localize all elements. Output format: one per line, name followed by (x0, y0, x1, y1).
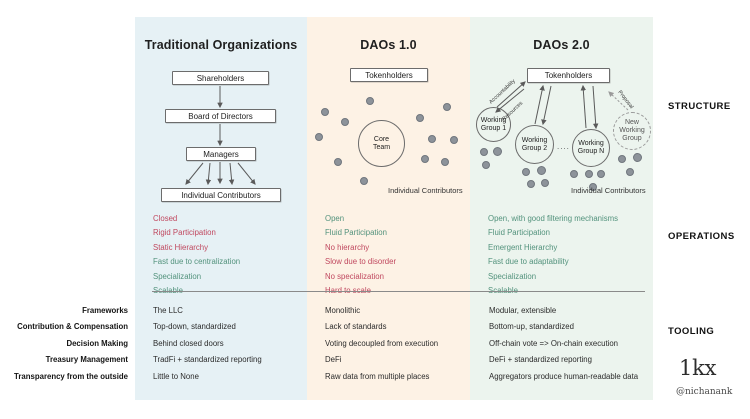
node-tokenholders-daos1: Tokenholders (350, 68, 428, 82)
operations-list-daos1: Open Fluid Participation No hierarchy Sl… (325, 212, 396, 298)
tooling-row-label: Treasury Management (0, 352, 128, 368)
tooling-cell: Monolithic (325, 303, 438, 319)
tooling-row-label: Frameworks (0, 303, 128, 319)
contributor-dot (360, 177, 368, 185)
contributor-dot (321, 108, 329, 116)
operations-item: Slow due to disorder (325, 255, 396, 269)
contributor-dot (597, 170, 605, 178)
operations-item: Emergent Hierarchy (488, 241, 618, 255)
tooling-row-labels: Frameworks Contribution & Compensation D… (0, 303, 128, 385)
contributor-dot (585, 170, 593, 178)
tooling-cell: Voting decoupled from execution (325, 336, 438, 352)
contributor-dot (633, 153, 642, 162)
operations-list-daos2: Open, with good filtering mechanisms Flu… (488, 212, 618, 298)
contributor-dot (493, 147, 502, 156)
tooling-cell: Little to None (153, 369, 262, 385)
tooling-row-label: Transparency from the outside (0, 369, 128, 385)
contributor-dot (537, 166, 546, 175)
contributor-dot (541, 179, 549, 187)
node-individual-contributors: Individual Contributors (161, 188, 281, 202)
tooling-column-daos1: Monolithic Lack of standards Voting deco… (325, 303, 438, 385)
core-team-line-1: Core (373, 136, 390, 144)
tooling-cell: Behind closed doors (153, 336, 262, 352)
contributor-dot (334, 158, 342, 166)
brand-logo: 1kx (679, 356, 716, 380)
contributor-dot (527, 180, 535, 188)
tooling-cell: Bottom-up, standardized (489, 319, 638, 335)
operations-item: Fast due to adaptability (488, 255, 618, 269)
operations-item: Fluid Participation (488, 226, 618, 240)
tooling-cell: Lack of standards (325, 319, 438, 335)
contributor-dot (421, 155, 429, 163)
tooling-row-label: Contribution & Compensation (0, 319, 128, 335)
tooling-cell: TradFi + standardized reporting (153, 352, 262, 368)
section-label-structure: STRUCTURE (668, 101, 731, 112)
contributor-dot (441, 158, 449, 166)
contributor-dot (618, 155, 626, 163)
contributor-dot (450, 136, 458, 144)
node-new-working-group: New Working Group (613, 112, 651, 150)
operations-item: Closed (153, 212, 240, 226)
contributor-dot (570, 170, 578, 178)
node-working-group-1: Working Group 1 (476, 107, 511, 142)
operations-item: Specialization (488, 270, 618, 284)
node-board-of-directors: Board of Directors (165, 109, 276, 123)
tooling-column-traditional: The LLC Top-down, standardized Behind cl… (153, 303, 262, 385)
section-label-tooling: TOOLING (668, 326, 714, 337)
column-title-traditional: Traditional Organizations (135, 38, 307, 52)
column-title-daos1: DAOs 1.0 (307, 38, 470, 52)
working-group-1-line-2: Group 1 (481, 125, 507, 133)
working-group-2-line-1: Working (522, 137, 548, 145)
operations-item: Specialization (153, 270, 240, 284)
diagram-canvas: Traditional Organizations DAOs 1.0 DAOs … (0, 0, 750, 419)
tooling-cell: Off-chain vote => On-chain execution (489, 336, 638, 352)
operations-item: Static Hierarchy (153, 241, 240, 255)
tooling-cell: Aggregators produce human-readable data (489, 369, 638, 385)
operations-item: Open, with good filtering mechanisms (488, 212, 618, 226)
tooling-cell: Top-down, standardized (153, 319, 262, 335)
new-working-group-line-3: Group (619, 135, 645, 143)
new-working-group-line-2: Working (619, 127, 645, 135)
tooling-divider (152, 291, 645, 292)
operations-list-traditional: Closed Rigid Participation Static Hierar… (153, 212, 240, 298)
core-team-line-2: Team (373, 144, 390, 152)
working-group-n-line-1: Working (578, 140, 604, 148)
tooling-column-daos2: Modular, extensible Bottom-up, standardi… (489, 303, 638, 385)
tooling-cell: Raw data from multiple places (325, 369, 438, 385)
node-working-group-n: Working Group N (572, 129, 610, 167)
contributor-dot (522, 168, 530, 176)
node-shareholders: Shareholders (172, 71, 269, 85)
operations-item: Rigid Participation (153, 226, 240, 240)
working-group-2-line-2: Group 2 (522, 145, 548, 153)
tooling-cell: DeFi + standardized reporting (489, 352, 638, 368)
node-working-group-2: Working Group 2 (515, 125, 554, 164)
node-core-team: Core Team (358, 120, 405, 167)
contributor-dot (482, 161, 490, 169)
working-group-1-line-1: Working (481, 117, 507, 125)
operations-item: No specialization (325, 270, 396, 284)
node-managers: Managers (186, 147, 256, 161)
tooling-row-label: Decision Making (0, 336, 128, 352)
contributor-dot (366, 97, 374, 105)
brand-handle: @nichanank (676, 387, 732, 397)
tooling-cell: Modular, extensible (489, 303, 638, 319)
new-working-group-line-1: New (619, 119, 645, 127)
contributor-dot (341, 118, 349, 126)
section-label-operations: OPERATIONS (668, 231, 735, 242)
operations-item: Open (325, 212, 396, 226)
contributor-dot (480, 148, 488, 156)
working-groups-ellipsis: .... (557, 142, 570, 151)
operations-item: No hierarchy (325, 241, 396, 255)
label-individual-contributors-daos1: Individual Contributors (388, 186, 463, 195)
tooling-cell: The LLC (153, 303, 262, 319)
operations-item: Fast due to centralization (153, 255, 240, 269)
contributor-dot (443, 103, 451, 111)
working-group-n-line-2: Group N (578, 148, 604, 156)
operations-item: Fluid Participation (325, 226, 396, 240)
column-title-daos2: DAOs 2.0 (470, 38, 653, 52)
label-individual-contributors-daos2: Individual Contributors (571, 186, 646, 195)
contributor-dot (626, 168, 634, 176)
contributor-dot (416, 114, 424, 122)
tooling-cell: DeFi (325, 352, 438, 368)
contributor-dot (428, 135, 436, 143)
contributor-dot (315, 133, 323, 141)
node-tokenholders-daos2: Tokenholders (527, 68, 610, 83)
